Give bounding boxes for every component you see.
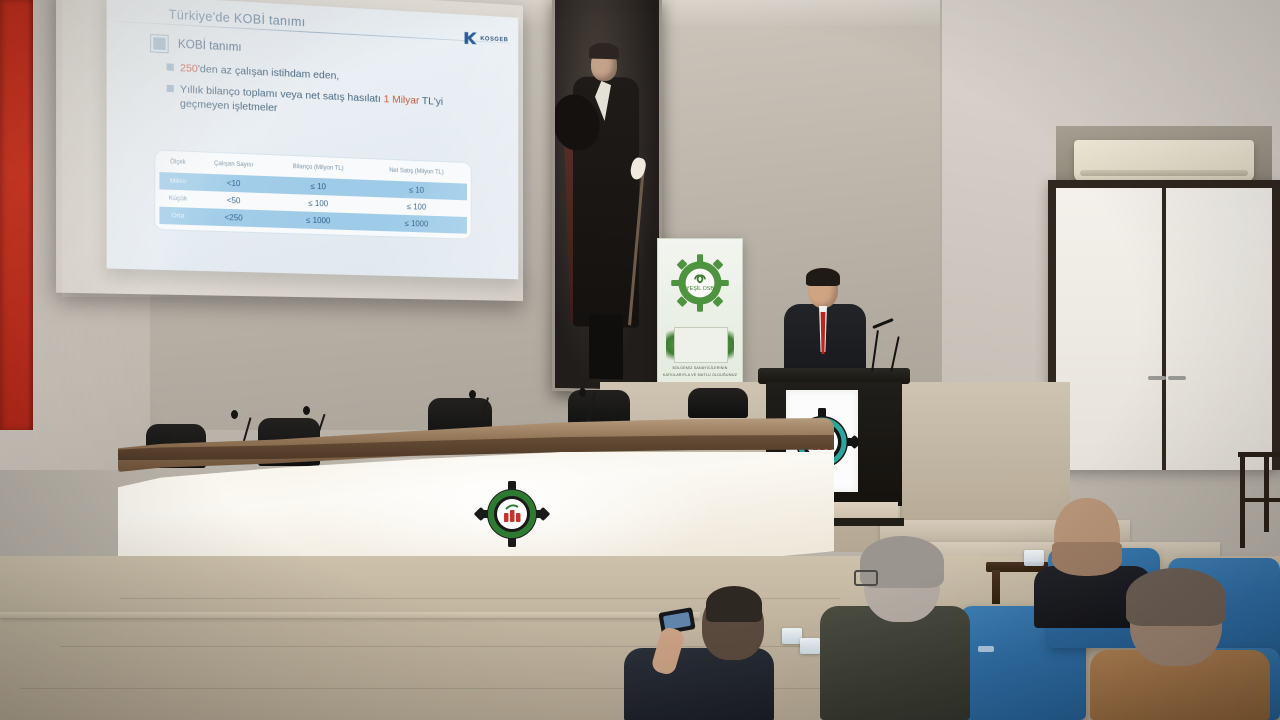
kosgeb-k-icon [464,30,478,45]
audience-gray-hair-glasses [820,540,970,720]
conference-hall-scene: Türkiye'de KOBİ tanımı KOSGEB KOBİ tanım… [0,0,1280,720]
banner-tagline: BÖLGEMİZ SANAYİCİLERİNİN KATKILARIYLA VE… [658,365,742,379]
audience-photographer [624,590,774,720]
slide-heading: KOBİ tanımı [178,39,242,55]
cell-bilanco: ≤ 1000 [270,210,365,230]
bullet-1-text: 'den az çalışan istihdam eden, [198,63,339,82]
double-door[interactable] [1048,180,1280,470]
col-olcek: Ölçek [159,157,196,173]
square-bullet-icon [167,85,174,92]
svg-text:YEŞİL OSB: YEŞİL OSB [686,285,714,292]
banner-illustration [674,327,728,363]
cell-olcek: Küçük [159,189,196,208]
yesil-osb-gear-icon: YEŞİL OSB [670,253,730,318]
door-handle-icon[interactable] [1168,376,1186,380]
cell-olcek: Mikro [159,172,196,191]
ac-vent [1080,170,1248,176]
projection-screen: Türkiye'de KOBİ tanımı KOSGEB KOBİ tanım… [107,0,519,279]
air-conditioner-icon [1074,140,1254,182]
door-handle-icon[interactable] [1148,376,1166,380]
floor-step [0,612,700,618]
water-glass [782,628,802,644]
side-shelf-leg [1264,452,1269,532]
kobi-criteria-table: Ölçek Çalışan Sayısı Bilanço (Milyon TL)… [159,157,467,233]
bullet-2-highlight: 1 Milyar [384,93,420,107]
ataturk-portrait [552,0,662,393]
banner-tagline-line2: KATKILARIYLA VE MUTLU OLDUĞUMUZ [658,372,742,379]
floor-seam [60,646,920,647]
turkish-flag-strip [0,0,33,430]
osb-gear-emblem-desk [474,476,550,553]
kobi-criteria-table-card: Ölçek Çalışan Sayısı Bilanço (Milyon TL)… [154,149,471,239]
cell-netsatis: ≤ 1000 [365,213,467,233]
eyeglasses-icon [854,570,878,586]
side-shelf-rail [1240,498,1280,502]
cell-olcek: Orta [159,206,196,224]
side-table-leg [992,570,1000,604]
speaker-person [780,272,876,382]
floor-seam [20,688,920,689]
cell-calisan: <250 [196,207,270,227]
presentation-slide: Türkiye'de KOBİ tanımı KOSGEB KOBİ tanım… [107,0,519,279]
square-bullet-icon [167,63,174,70]
door-leaf-right[interactable] [1166,188,1272,470]
square-bullet-icon [150,34,169,53]
water-glass [800,638,820,654]
door-leaf-left[interactable] [1056,188,1162,470]
kosgeb-logo: KOSGEB [464,30,509,47]
bullet-1-highlight: 250 [180,62,198,75]
audience-tan-jacket [1090,574,1270,720]
banner-tagline-line1: BÖLGEMİZ SANAYİCİLERİNİN [658,365,742,372]
kosgeb-logo-text: KOSGEB [481,36,509,43]
